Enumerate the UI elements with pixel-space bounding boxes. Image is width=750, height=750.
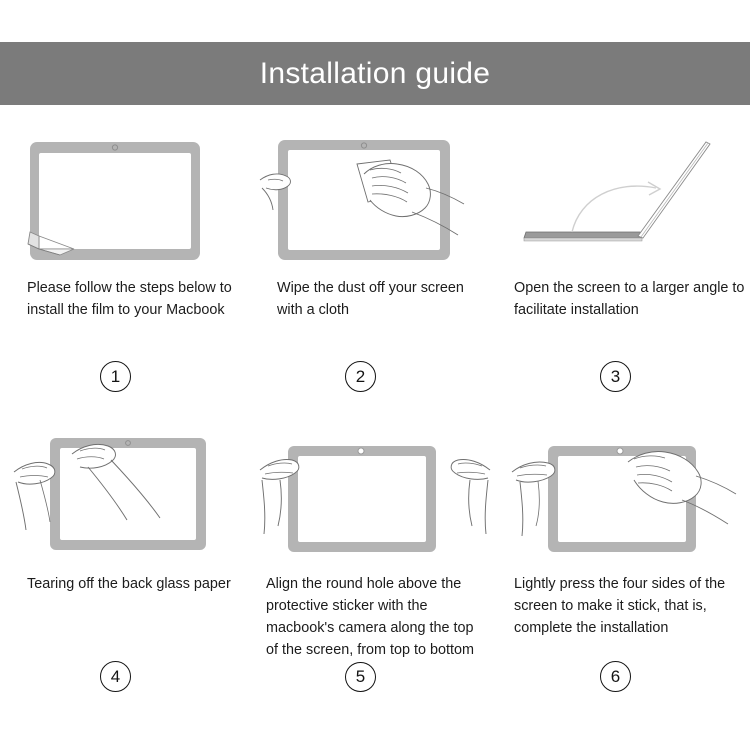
two-hands-aligning-film-on-screen-icon: [260, 432, 490, 560]
step-caption-6: Lightly press the four sides of the scre…: [514, 574, 746, 640]
step-item-2: Wipe the dust off your screen with a clo…: [250, 120, 500, 410]
step-item-6: Lightly press the four sides of the scre…: [500, 410, 750, 710]
hand-wiping-screen-with-cloth-icon: [260, 136, 490, 264]
step-number-3: 3: [600, 361, 631, 392]
step-item-3: Open the screen to a larger angle to fac…: [500, 120, 750, 410]
step-caption-1: Please follow the steps below to install…: [27, 278, 241, 322]
step-item-4: Tearing off the back glass paper 4: [0, 410, 250, 710]
step-illustration-5: [260, 432, 490, 560]
step-caption-4: Tearing off the back glass paper: [27, 574, 241, 596]
laptop-side-view-opening-screen-icon: [510, 136, 740, 264]
step-number-6: 6: [600, 661, 631, 692]
step-number-4: 4: [100, 661, 131, 692]
step-illustration-6: [510, 432, 740, 560]
step-number-1: 1: [100, 361, 131, 392]
two-hands-tearing-backing-paper-icon: [10, 432, 240, 560]
step-caption-3: Open the screen to a larger angle to fac…: [514, 278, 746, 322]
header-banner: Installation guide: [0, 42, 750, 105]
step-illustration-2: [260, 136, 490, 264]
step-caption-2: Wipe the dust off your screen with a clo…: [277, 278, 491, 322]
hand-pressing-film-onto-screen-icon: [510, 432, 740, 560]
steps-grid: Please follow the steps below to install…: [0, 120, 750, 710]
step-illustration-4: [10, 432, 240, 560]
step-illustration-3: [510, 136, 740, 264]
step-number-5: 5: [345, 662, 376, 692]
step-illustration-1: [10, 136, 240, 264]
step-caption-5: Align the round hole above the protectiv…: [266, 574, 484, 662]
page-title: Installation guide: [260, 59, 491, 89]
step-item-1: Please follow the steps below to install…: [0, 120, 250, 410]
step-number-2: 2: [345, 361, 376, 392]
steps-row-1: Please follow the steps below to install…: [0, 120, 750, 410]
steps-row-2: Tearing off the back glass paper 4: [0, 410, 750, 710]
screen-with-peeling-film-corner-icon: [10, 136, 240, 264]
step-item-5: Align the round hole above the protectiv…: [250, 410, 500, 710]
